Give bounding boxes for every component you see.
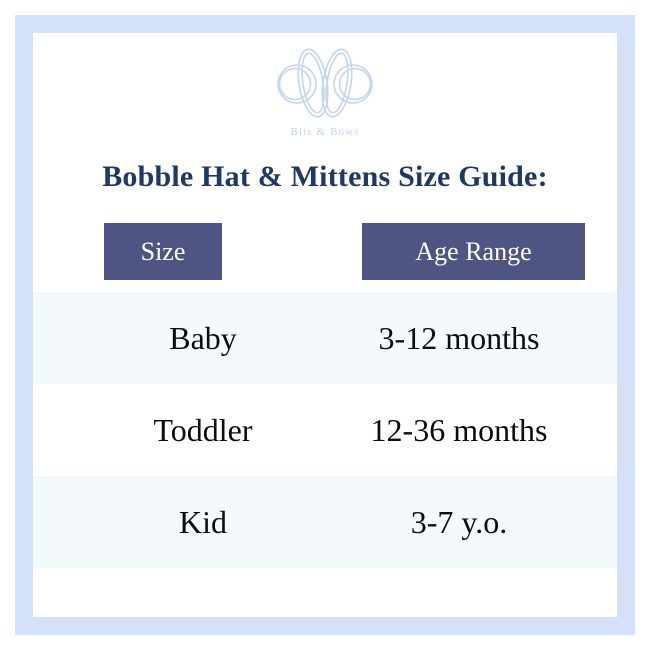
brand-wordmark: Bits & Bows [33,126,617,138]
table-body: Baby 3-12 months Toddler 12-36 months Ki… [33,292,617,568]
cell-age-range: 3-12 months [333,292,585,384]
bow-monogram-icon [270,43,380,123]
card-inner-surface: Bits & Bows Bobble Hat & Mittens Size Gu… [33,33,617,617]
table-row: Kid 3-7 y.o. [33,476,617,568]
size-guide-card: Bits & Bows Bobble Hat & Mittens Size Gu… [15,15,635,635]
cell-size: Kid [104,476,302,568]
cell-size: Baby [104,292,302,384]
cell-size: Toddler [104,384,302,476]
brand-block: Bits & Bows [33,43,617,138]
table-header-row: Size Age Range [33,223,617,280]
table-row: Baby 3-12 months [33,292,617,384]
cell-age-range: 12-36 months [333,384,585,476]
cell-age-range: 3-7 y.o. [333,476,585,568]
page-title: Bobble Hat & Mittens Size Guide: [33,160,617,194]
column-header-age-range: Age Range [362,223,585,280]
table-row: Toddler 12-36 months [33,384,617,476]
column-header-size: Size [104,223,222,280]
